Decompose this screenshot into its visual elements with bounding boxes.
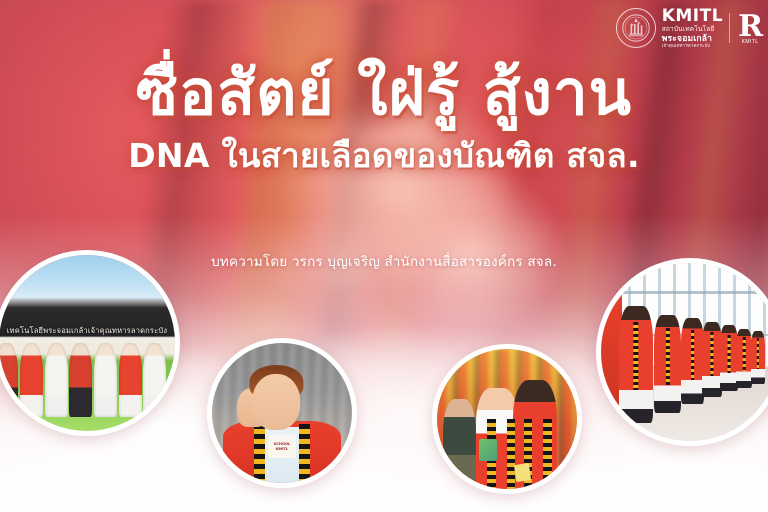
secondary-logo-sub: KMITL [742,40,759,45]
photo-3-stole [507,419,515,489]
photo-2-stole-right [299,424,310,483]
logo-cluster: KMITL สถาบันเทคโนโลยี พระจอมเกล้า เจ้าคุ… [616,8,762,49]
photo-4-content [601,263,768,441]
photo-2-content: SCHOOL KMITL [212,343,352,483]
page-title: ซื่อสัตย์ ใฝ่รู้ สู้งาน [0,62,768,124]
photo-two-graduates [432,344,582,494]
graduate-figure [20,343,43,417]
photo-graduate-waving: SCHOOL KMITL [207,338,357,488]
graduate-figure [143,343,166,417]
byline: บทความโดย วรกร บุญเจริญ สำนักงานสื่อสารอ… [0,250,768,272]
headline-block: ซื่อสัตย์ ใฝ่รู้ สู้งาน DNA ในสายเลือดขอ… [0,62,768,174]
photo-1-graduates [0,343,175,417]
kmitl-wordmark-thai-3: เจ้าคุณทหารลาดกระบัง [662,44,723,49]
kmitl-wordmark-thai-2: พระจอมเกล้า [662,34,723,43]
kmitl-wordmark: KMITL สถาบันเทคโนโลยี พระจอมเกล้า เจ้าคุ… [662,8,723,49]
logo-divider [729,13,730,43]
graduate-figure [69,343,92,417]
graduate-figure [736,329,752,388]
photo-graduates-outdoor: เทคโนโลยีพระจอมเกล้าเจ้าคุณทหารลาดกระบัง… [0,250,180,436]
photo-1-content: เทคโนโลยีพระจอมเกล้าเจ้าคุณทหารลาดกระบัง… [0,255,175,431]
secondary-logo-mark: R [738,12,762,42]
kmitl-wordmark-latin: KMITL [662,8,723,25]
kmitl-wordmark-thai-1: สถาบันเทคโนโลยี [662,27,723,34]
secondary-logo: R KMITL [738,12,762,45]
photo-1-banner-thai: เทคโนโลยีพระจอมเกล้าเจ้าคุณทหารลาดกระบัง [0,325,175,337]
photo-3-gift-box [479,439,497,461]
graduate-figure [681,318,704,403]
graduate-figure [119,343,142,417]
graduate-figure [654,315,681,413]
poster-canvas: KMITL สถาบันเทคโนโลยี พระจอมเกล้า เจ้าคุ… [0,0,768,512]
page-subtitle: DNA ในสายเลือดของบัณฑิต สจล. [0,138,768,174]
photo-2-stole-left [254,424,265,483]
photo-2-badge-line-2: KMITL [276,447,288,451]
photo-2-face [253,374,301,430]
graduate-figure [751,331,765,384]
graduate-figure [94,343,117,417]
photo-3-card [514,463,532,482]
photo-4-window-mullion [601,291,768,294]
photo-procession-indoor [596,258,768,446]
photo-3-content [437,349,577,489]
photo-3-stole [543,419,551,489]
photo-3-bystander [443,399,477,489]
graduate-figure [619,306,653,423]
graduate-figure [0,343,18,417]
graduate-figure [702,322,722,397]
kmitl-seal-icon [616,8,656,48]
photo-2-badge: SCHOOL KMITL [268,435,296,457]
graduate-figure [45,343,68,417]
